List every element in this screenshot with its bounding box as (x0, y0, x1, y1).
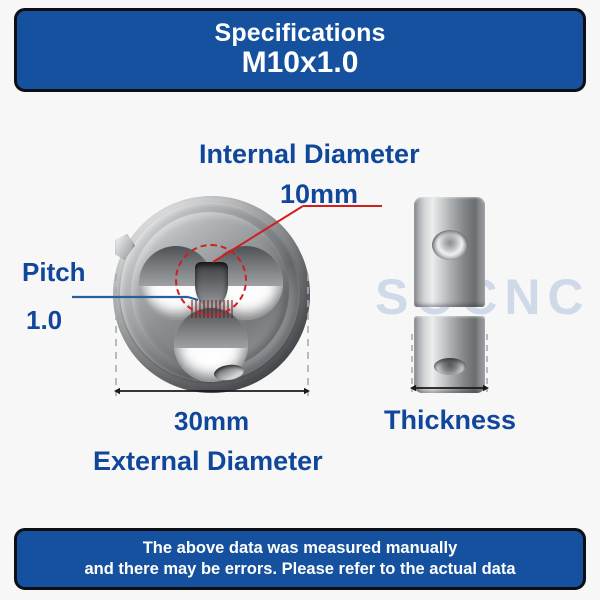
pitch-leader (72, 297, 198, 300)
pitch-value: 1.0 (26, 305, 62, 336)
external-diameter-value: 30mm (174, 406, 249, 437)
disclaimer-line-2: and there may be errors. Please refer to… (84, 559, 515, 580)
external-diameter-label: External Diameter (93, 446, 323, 477)
disclaimer-banner: The above data was measured manually and… (14, 528, 586, 590)
internal-diameter-value: 10mm (280, 179, 358, 210)
specifications-value: M10x1.0 (242, 46, 359, 80)
specifications-title: Specifications (215, 20, 386, 46)
specifications-banner: Specifications M10x1.0 (14, 8, 586, 92)
thickness-label: Thickness (384, 405, 516, 436)
external-diameter-dimension (116, 274, 308, 396)
pitch-label: Pitch (22, 257, 86, 288)
product-diagram: SOCNC (0, 96, 600, 520)
internal-diameter-label: Internal Diameter (199, 139, 420, 170)
thickness-dimension (412, 334, 487, 392)
disclaimer-line-1: The above data was measured manually (143, 538, 458, 559)
internal-diameter-leader (213, 206, 382, 262)
